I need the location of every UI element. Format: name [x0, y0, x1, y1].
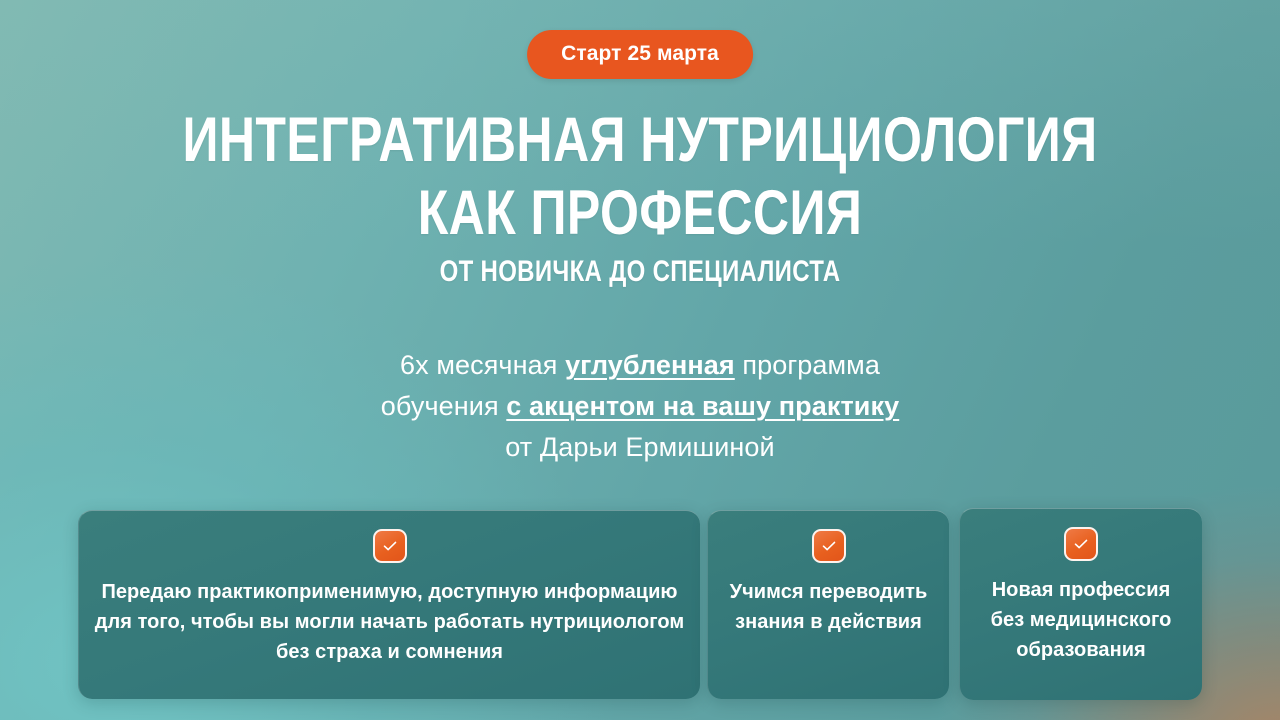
check-icon [1064, 527, 1098, 561]
benefit-card: Учимся переводить знания в действия [707, 510, 949, 699]
benefit-card-text: Новая профессия без медицинского образов… [960, 575, 1202, 665]
benefit-card-text: Передаю практикоприменимую, доступную ин… [79, 577, 700, 667]
check-icon [373, 529, 407, 563]
landing-hero-section: Старт 25 марта ИНТЕГРАТИВНАЯ НУТРИЦИОЛОГ… [0, 0, 1280, 720]
benefit-card-text: Учимся переводить знания в действия [708, 577, 949, 637]
benefit-card: Новая профессия без медицинского образов… [959, 508, 1202, 700]
benefit-cards-row: Передаю практикоприменимую, доступную ин… [0, 0, 1280, 720]
benefit-card: Передаю практикоприменимую, доступную ин… [78, 510, 700, 699]
check-icon [812, 529, 846, 563]
